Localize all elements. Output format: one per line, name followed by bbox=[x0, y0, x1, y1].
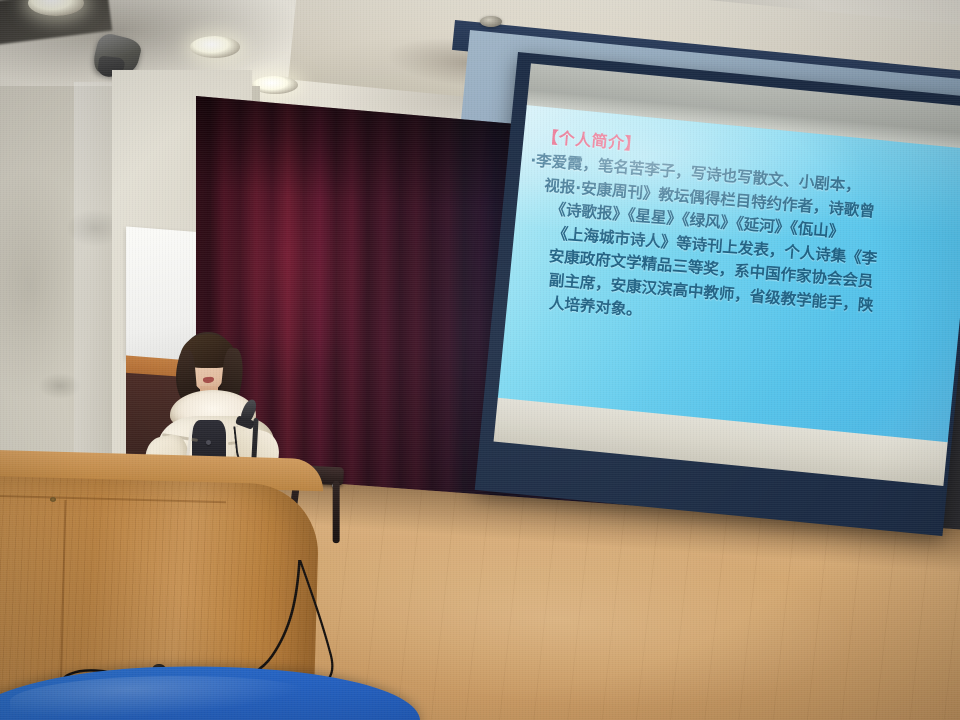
downlight-icon bbox=[190, 36, 240, 58]
slide-content: 【个人简介】 ·李爱霞，笔名苦李子，写诗也写散文、小剧本， 视报·安康周刊》教坛… bbox=[524, 123, 960, 350]
projection-screen: 【个人简介】 ·李爱霞，笔名苦李子，写诗也写散文、小剧本， 视报·安康周刊》教坛… bbox=[475, 52, 960, 536]
photograph-lecture-hall: 【个人简介】 ·李爱霞，笔名苦李子，写诗也写散文、小剧本， 视报·安康周刊》教坛… bbox=[0, 0, 960, 720]
wall-column bbox=[74, 82, 116, 512]
jacket-button bbox=[206, 440, 211, 445]
chair-leg bbox=[333, 481, 340, 543]
smoke-detector-icon bbox=[480, 16, 502, 27]
slide-canvas: 【个人简介】 ·李爱霞，笔名苦李子，写诗也写散文、小剧本， 视报·安康周刊》教坛… bbox=[498, 105, 960, 442]
podium-screw bbox=[50, 497, 56, 502]
